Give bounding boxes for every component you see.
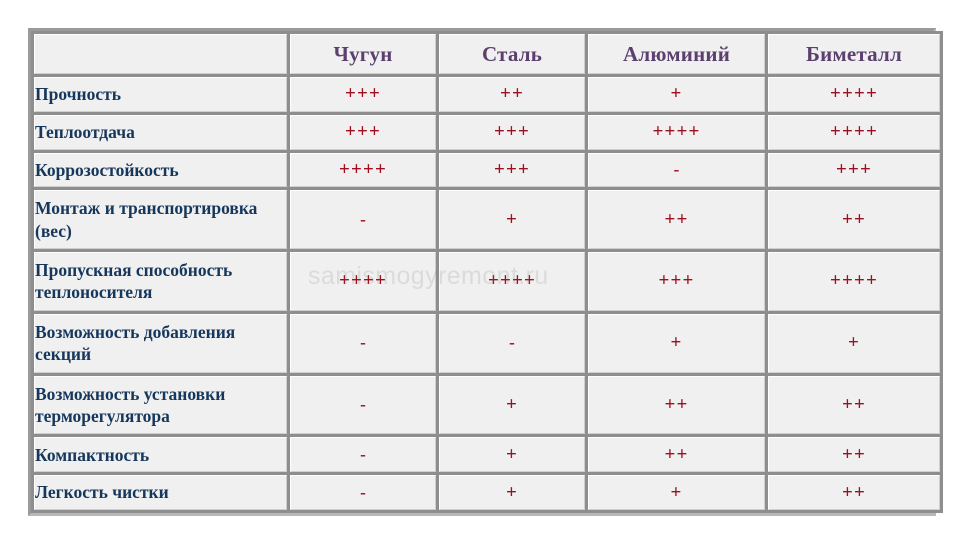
cell-value: +++ [439, 115, 585, 150]
table-row: Монтаж и транспортировка (вес) - + ++ ++ [34, 190, 940, 249]
comparison-table-frame: Чугун Сталь Алюминий Биметалл Прочность … [28, 28, 936, 516]
cell-value: ++++ [588, 115, 765, 150]
row-label: Прочность [34, 77, 287, 112]
cell-value: + [439, 376, 585, 435]
cell-value: ++ [439, 77, 585, 112]
table-row: Прочность +++ ++ + ++++ [34, 77, 940, 112]
cell-value: ++++ [439, 252, 585, 311]
header-cell-empty [34, 34, 287, 74]
cell-value: - [290, 437, 436, 472]
table-row: Теплоотдача +++ +++ ++++ ++++ [34, 115, 940, 150]
cell-value: - [439, 314, 585, 373]
table-header-row: Чугун Сталь Алюминий Биметалл [34, 34, 940, 74]
cell-value: +++ [290, 77, 436, 112]
table-row: Легкость чистки - + + ++ [34, 475, 940, 510]
cell-value: ++ [588, 376, 765, 435]
cell-value: + [588, 314, 765, 373]
cell-value: + [768, 314, 940, 373]
header-cell-cast-iron: Чугун [290, 34, 436, 74]
cell-value: ++++ [290, 153, 436, 188]
row-label: Легкость чистки [34, 475, 287, 510]
row-label: Возможность добавления секций [34, 314, 287, 373]
cell-value: - [290, 475, 436, 510]
cell-value: ++++ [768, 77, 940, 112]
cell-value: - [290, 376, 436, 435]
cell-value: + [439, 475, 585, 510]
row-label: Пропускная способность теплоносителя [34, 252, 287, 311]
cell-value: ++ [768, 475, 940, 510]
cell-value: - [588, 153, 765, 188]
table-row: Коррозостойкость ++++ +++ - +++ [34, 153, 940, 188]
cell-value: + [588, 77, 765, 112]
table-row: Возможность установки терморегулятора - … [34, 376, 940, 435]
row-label: Теплоотдача [34, 115, 287, 150]
cell-value: + [439, 437, 585, 472]
table-row: Пропускная способность теплоносителя +++… [34, 252, 940, 311]
radiator-comparison-table: Чугун Сталь Алюминий Биметалл Прочность … [31, 31, 943, 513]
row-label: Компактность [34, 437, 287, 472]
header-cell-steel: Сталь [439, 34, 585, 74]
header-cell-aluminium: Алюминий [588, 34, 765, 74]
cell-value: +++ [290, 115, 436, 150]
cell-value: - [290, 314, 436, 373]
cell-value: ++++ [768, 115, 940, 150]
cell-value: ++ [588, 437, 765, 472]
cell-value: +++ [588, 252, 765, 311]
cell-value: ++ [768, 376, 940, 435]
cell-value: - [290, 190, 436, 249]
row-label: Возможность установки терморегулятора [34, 376, 287, 435]
page-root: Чугун Сталь Алюминий Биметалл Прочность … [0, 0, 966, 546]
table-row: Компактность - + ++ ++ [34, 437, 940, 472]
cell-value: ++ [768, 190, 940, 249]
cell-value: ++ [588, 190, 765, 249]
cell-value: + [588, 475, 765, 510]
cell-value: ++++ [768, 252, 940, 311]
table-row: Возможность добавления секций - - + + [34, 314, 940, 373]
cell-value: + [439, 190, 585, 249]
cell-value: ++ [768, 437, 940, 472]
row-label: Коррозостойкость [34, 153, 287, 188]
cell-value: +++ [439, 153, 585, 188]
cell-value: +++ [768, 153, 940, 188]
row-label: Монтаж и транспортировка (вес) [34, 190, 287, 249]
header-cell-bimetal: Биметалл [768, 34, 940, 74]
cell-value: ++++ [290, 252, 436, 311]
